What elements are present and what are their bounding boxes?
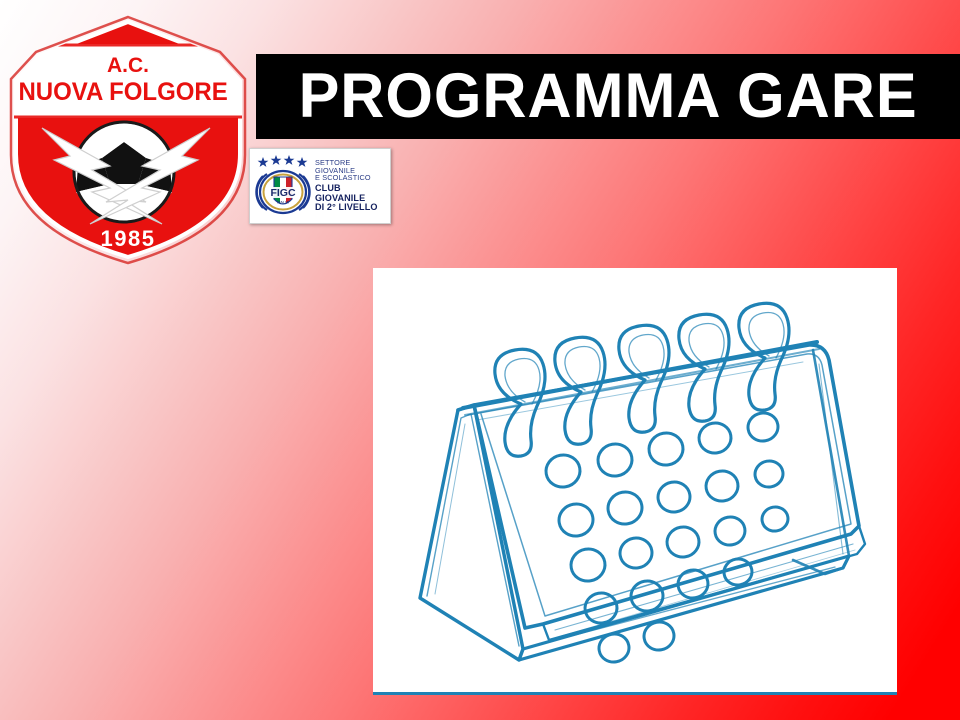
- title-banner: PROGRAMMA GARE: [256, 54, 960, 139]
- crest-year: 1985: [101, 226, 156, 251]
- figc-acronym: FIGC: [270, 187, 295, 199]
- calendar-date-circles: [543, 411, 789, 665]
- figc-line-3: CLUB GIOVANILE: [315, 184, 387, 204]
- figc-badge-text: SETTORE GIOVANILE E SCOLASTICO CLUB GIOV…: [313, 159, 390, 214]
- figc-affiliation-badge: FIGC ITALIA SETTORE GIOVANILE E SCOLASTI…: [249, 148, 391, 224]
- crest-line1: A.C.: [107, 54, 149, 77]
- desk-calendar-icon: [373, 268, 897, 692]
- calendar-illustration-card: [373, 268, 897, 695]
- club-crest-logo: A.C. NUOVA FOLGORE 1985: [6, 14, 250, 266]
- figc-emblem-icon: FIGC ITALIA: [253, 154, 313, 218]
- spiral-ring-1: [495, 349, 545, 456]
- figc-line-1: SETTORE GIOVANILE: [315, 159, 387, 175]
- page-title: PROGRAMMA GARE: [298, 65, 917, 128]
- figc-line-4: DI 2° LIVELLO: [315, 203, 387, 213]
- figc-sub-acronym: ITALIA: [277, 200, 289, 205]
- crest-line2: NUOVA FOLGORE: [18, 79, 227, 107]
- slide-canvas: A.C. NUOVA FOLGORE 1985: [0, 0, 960, 720]
- figc-stars-icon: [258, 155, 308, 167]
- figc-line-2: E SCOLASTICO: [315, 174, 387, 182]
